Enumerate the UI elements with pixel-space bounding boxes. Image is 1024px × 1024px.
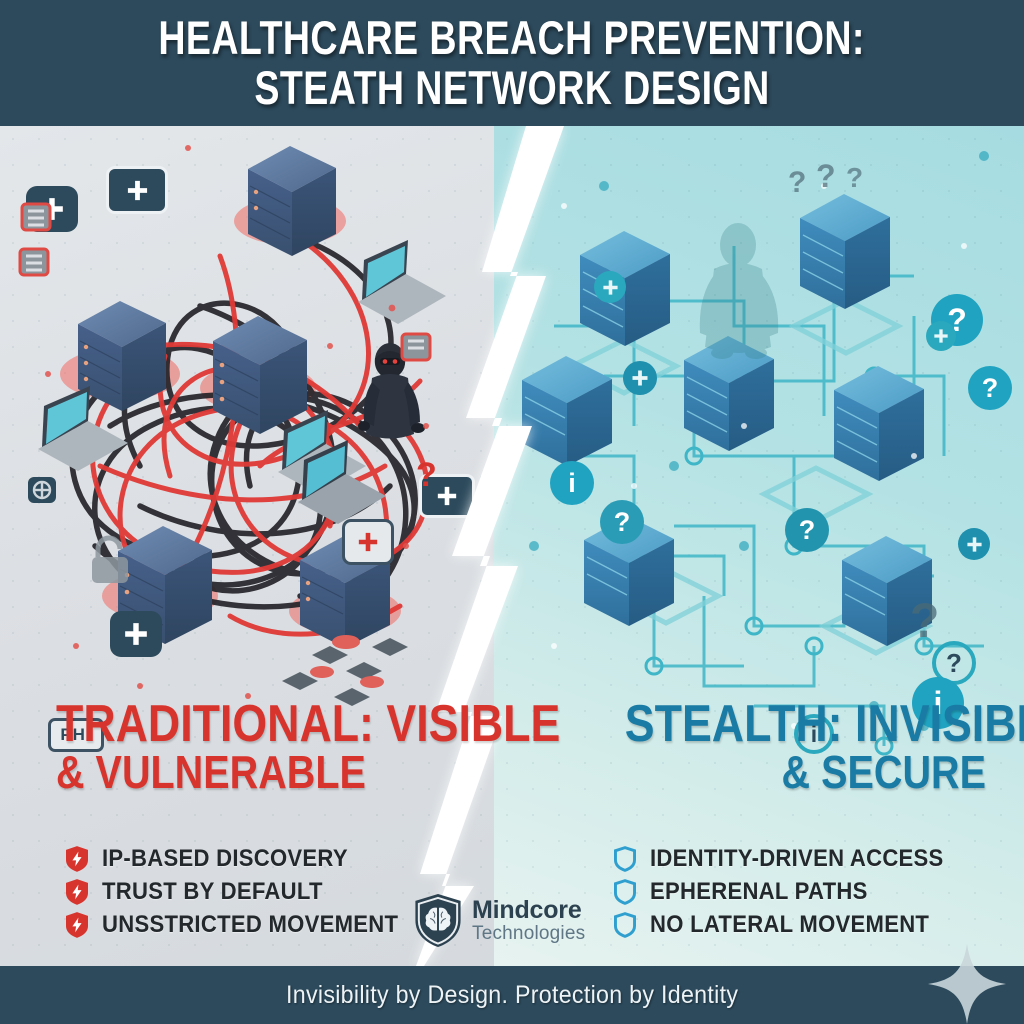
lightning-divider — [414, 126, 624, 966]
infographic-canvas: HEALTHCARE BREACH PREVENTION: STEATH NET… — [0, 0, 1024, 1024]
list-item-label: IP-BASED DISCOVERY — [102, 845, 348, 873]
left-headline-line2: & VULNERABLE — [56, 750, 426, 794]
server-rack — [213, 316, 307, 434]
question-mark: ? — [788, 166, 806, 200]
server-rack — [800, 194, 890, 309]
four-point-star-icon — [928, 944, 1006, 1024]
shield-bolt-icon — [66, 879, 88, 905]
database-icon — [24, 471, 72, 516]
right-headline-line2: & SECURE — [625, 750, 986, 794]
cross-glyph — [126, 179, 149, 202]
medical-cross-icon — [623, 361, 657, 395]
list-item-label: NO LATERAL MOVEMENT — [650, 911, 929, 939]
database-glyph — [18, 196, 74, 238]
shield-bolt-icon — [66, 912, 88, 938]
database-icon — [16, 241, 72, 288]
page-title-line2: STEATH NETWORK DESIGN — [254, 64, 769, 112]
question-mark: ? — [846, 162, 863, 194]
left-headline-light: VISIBLE — [374, 695, 560, 753]
comparison-body: PHI ? — [0, 126, 1024, 966]
server-rack — [248, 146, 336, 256]
medical-cross-icon — [958, 528, 990, 560]
question-mark: ? — [816, 158, 836, 195]
list-item-label: UNSSTRICTED MOVEMENT — [102, 911, 398, 939]
shield-outline-icon — [614, 912, 636, 938]
left-headline-strong: TRADITIONAL: — [56, 695, 374, 753]
right-headline-line1: STEALTH: INVISIBLE — [625, 700, 986, 750]
right-bullet-list: IDENTITY-DRIVEN ACCESS EPHERENAL PATHS N… — [614, 842, 969, 941]
footer-band: Invisibility by Design. Protection by Id… — [0, 966, 1024, 1024]
cross-glyph — [631, 369, 649, 387]
server-rack — [78, 301, 166, 411]
cross-glyph — [966, 536, 983, 553]
list-item: EPHERENAL PATHS — [614, 875, 969, 908]
medical-cross-icon — [342, 519, 394, 565]
medical-cross-icon — [106, 166, 168, 214]
list-item: IP-BASED DISCOVERY — [66, 842, 424, 875]
right-headline-strong: STEALTH: — [625, 695, 843, 753]
list-item-label: TRUST BY DEFAULT — [102, 878, 323, 906]
server-rack — [834, 366, 924, 481]
list-item: IDENTITY-DRIVEN ACCESS — [614, 842, 969, 875]
left-bullet-list: IP-BASED DISCOVERY TRUST BY DEFAULT UNSS… — [66, 842, 424, 941]
shield-outline-icon — [614, 879, 636, 905]
shield-bolt-icon — [66, 846, 88, 872]
database-glyph — [16, 241, 72, 283]
brain-shield-icon — [413, 893, 463, 948]
question-mark: ? — [910, 594, 939, 649]
database-glyph — [24, 471, 72, 511]
left-headline-line1: TRADITIONAL: VISIBLE — [56, 700, 426, 750]
left-headline: TRADITIONAL: VISIBLE & VULNERABLE — [56, 700, 486, 794]
ghost-intruder-icon — [700, 223, 778, 359]
header-band: HEALTHCARE BREACH PREVENTION: STEATH NET… — [0, 0, 1024, 126]
list-item: TRUST BY DEFAULT — [66, 875, 424, 908]
list-item: NO LATERAL MOVEMENT — [614, 908, 969, 941]
question-badge-icon: ? — [968, 366, 1012, 410]
cross-glyph — [357, 531, 379, 553]
page-title-line1: HEALTHCARE BREACH PREVENTION: — [159, 14, 866, 62]
medical-cross-icon — [110, 611, 162, 657]
brand-name: Mindcore — [472, 898, 585, 924]
question-badge-icon: ? — [785, 508, 829, 552]
right-headline-light: INVISIBLE — [843, 695, 1024, 753]
list-item-label: IDENTITY-DRIVEN ACCESS — [650, 845, 944, 873]
footer-tagline: Invisibility by Design. Protection by Id… — [286, 981, 738, 1010]
shield-outline-icon — [614, 846, 636, 872]
right-headline: STEALTH: INVISIBLE & SECURE — [566, 700, 986, 794]
database-icon — [18, 196, 74, 243]
cross-glyph — [933, 328, 949, 344]
cross-glyph — [123, 621, 149, 647]
brand-subtitle: Technologies — [472, 924, 585, 943]
medical-cross-icon — [926, 321, 956, 351]
list-item: UNSSTRICTED MOVEMENT — [66, 908, 424, 941]
brand-wordmark: Mindcore Technologies — [472, 898, 585, 943]
brand-logo: Mindcore Technologies — [413, 893, 585, 948]
list-item-label: EPHERENAL PATHS — [650, 878, 868, 906]
